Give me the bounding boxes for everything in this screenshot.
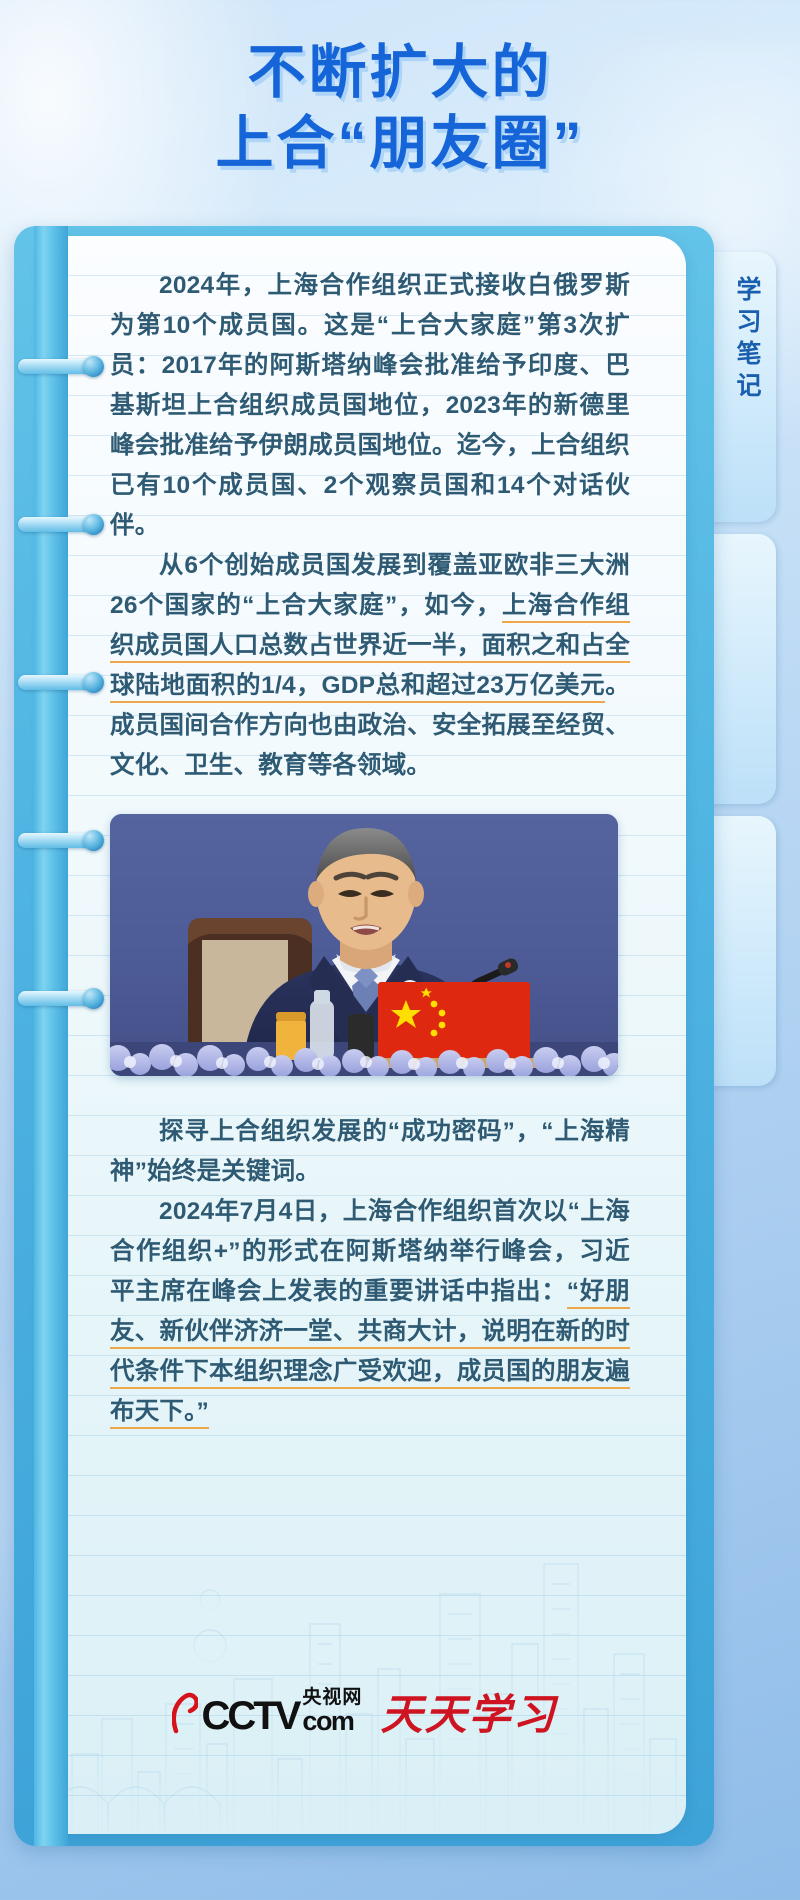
binding-ring-1 [18,356,104,376]
notebook: 学习笔记 [14,226,776,1846]
binding-ring-5 [18,988,104,1008]
title-line-2: 上合“朋友圈” [215,112,584,177]
binding-ring-4 [18,830,104,850]
cctv-wordmark: CCTV [202,1697,299,1735]
notebook-page: 2024年，上海合作组织正式接收白俄罗斯为第10个成员国。这是“上合大家庭”第3… [42,236,686,1834]
article-content-lower: 探寻上合组织发展的“成功密码”，“上海精神”始终是关键词。 2024年7月4日，… [110,1112,630,1432]
title-line-1: 不断扩大的 [247,41,552,106]
paragraph-3: 探寻上合组织发展的“成功密码”，“上海精神”始终是关键词。 [110,1112,630,1192]
paragraph-4-lead: 2024年7月4日，上海合作组织首次以“上海合作组织+”的形式在阿斯塔纳举行峰会… [110,1198,630,1305]
cctv-swoosh-icon [172,1691,198,1735]
cctv-logo: CCTV 央视网 com [172,1688,363,1735]
binding-ring-2 [18,514,104,534]
brand-tiantianxuexi: 天天学习 [380,1681,556,1742]
article-content: 2024年，上海合作组织正式接收白俄罗斯为第10个成员国。这是“上合大家庭”第3… [110,266,630,786]
paragraph-2: 从6个创始成员国发展到覆盖亚欧非三大洲26个国家的“上合大家庭”，如今，上海合作… [110,546,630,786]
cctv-domain: com [302,1708,362,1735]
footer-logos: CCTV 央视网 com 天天学习 [42,1681,686,1742]
binding-ring-3 [18,672,104,692]
paragraph-1: 2024年，上海合作组织正式接收白俄罗斯为第10个成员国。这是“上合大家庭”第3… [110,266,630,546]
notebook-spine [34,226,68,1846]
photo-illustration [110,814,618,1076]
paragraph-4: 2024年7月4日，上海合作组织首次以“上海合作组织+”的形式在阿斯塔纳举行峰会… [110,1192,630,1432]
cctv-sub: 央视网 com [302,1688,362,1735]
cctv-chinese-name: 央视网 [302,1688,362,1707]
city-skyline-watermark [42,1504,686,1834]
leader-photo [110,814,618,1076]
page-title: 不断扩大的 上合“朋友圈” [0,0,800,218]
side-tab-label: 学习笔记 [728,276,764,404]
